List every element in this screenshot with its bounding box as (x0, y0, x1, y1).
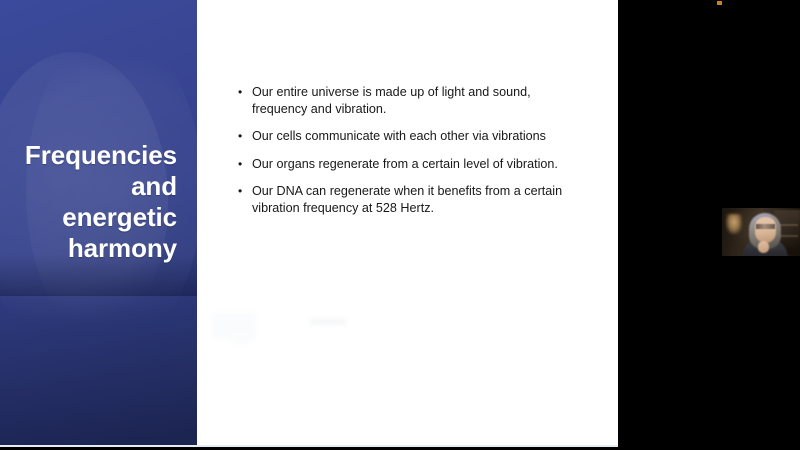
bullet-item: • Our cells communicate with each other … (238, 128, 578, 145)
slide-title-line-3: energetic (62, 202, 177, 232)
slide-body-bullets: • Our entire universe is made up of ligh… (238, 84, 578, 227)
webcam-light-glow (722, 208, 800, 256)
slide-bottom-edge (0, 445, 618, 447)
bullet-text: Our DNA can regenerate when it benefits … (252, 183, 578, 216)
bullet-marker-icon: • (238, 183, 252, 200)
panel-shading-lower (0, 296, 197, 447)
bullet-item: • Our entire universe is made up of ligh… (238, 84, 578, 117)
bullet-marker-icon: • (238, 128, 252, 145)
status-indicator-dot (717, 1, 722, 5)
video-call-screen: Frequenciesandenergeticharmony • Our ent… (0, 0, 800, 450)
bullet-text: Our organs regenerate from a certain lev… (252, 156, 578, 173)
bullet-marker-icon: • (238, 84, 252, 101)
presentation-slide[interactable]: Frequenciesandenergeticharmony • Our ent… (0, 0, 618, 447)
bullet-marker-icon: • (238, 156, 252, 173)
bullet-item: • Our DNA can regenerate when it benefit… (238, 183, 578, 216)
slide-title-line-2: and (131, 171, 177, 201)
bullet-item: • Our organs regenerate from a certain l… (238, 156, 578, 173)
compression-artifact (310, 318, 346, 325)
bullet-text: Our entire universe is made up of light … (252, 84, 578, 117)
slide-title-panel: Frequenciesandenergeticharmony (0, 0, 197, 447)
presenter-video-thumbnail[interactable] (722, 208, 800, 256)
bullet-text: Our cells communicate with each other vi… (252, 128, 578, 145)
compression-artifact (232, 332, 250, 344)
slide-title-line-1: Frequencies (25, 140, 177, 170)
slide-title: Frequenciesandenergeticharmony (17, 140, 177, 264)
slide-title-line-4: harmony (68, 233, 177, 263)
